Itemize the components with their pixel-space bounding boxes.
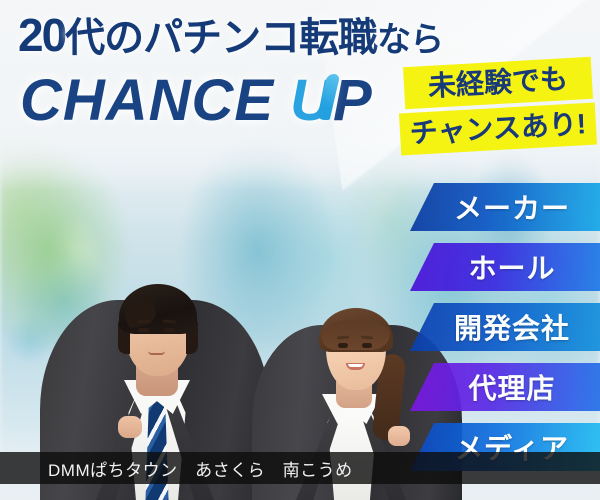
category-label-development-company: 開発会社 [410,307,600,347]
category-button-agency[interactable]: 代理店 [410,363,600,411]
advertisement-banner[interactable]: 20代のパチンコ転職なら CHANCEUP 未経験でも チャンスあり! メーカー… [0,0,600,500]
credit-bar: DMMぱちタウン あさくら 南こうめ [0,452,600,484]
category-button-maker[interactable]: メーカー [410,183,600,231]
category-button-hall[interactable]: ホール [410,243,600,291]
credit-text: DMMぱちタウン あさくら 南こうめ [0,456,353,481]
category-label-agency: 代理店 [410,367,600,407]
category-label-hall: ホール [410,247,600,287]
category-label-maker: メーカー [410,187,600,227]
category-button-development-company[interactable]: 開発会社 [410,303,600,351]
